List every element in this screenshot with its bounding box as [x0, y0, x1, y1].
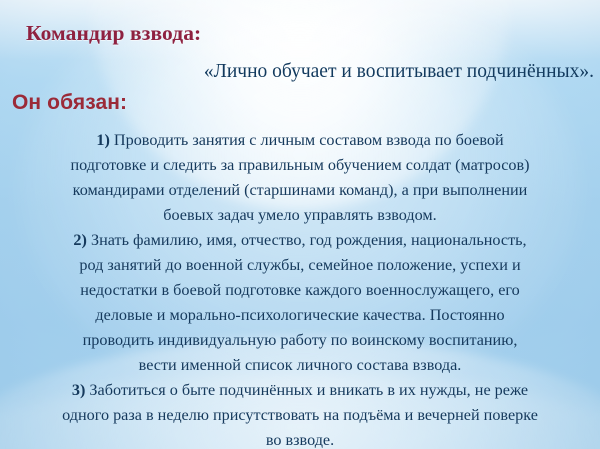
duty-line: недостатки в боевой подготовке каждого в… [80, 281, 520, 299]
slide-title: Командир взвода: [26, 22, 201, 45]
duty-line: командирами отделений (старшинами команд… [73, 181, 528, 199]
duty-marker: 1) [96, 131, 109, 149]
duty-line: боевых задач умело управлять взводом. [163, 206, 436, 224]
duty-line: деловые и морально-психологические качес… [95, 306, 504, 324]
duty-item-3: 3) Заботиться о быте подчинённых и вника… [6, 378, 594, 449]
duty-line: вести именной список личного состава взв… [139, 356, 462, 374]
duty-text: Проводить занятия с личным составом взво… [114, 131, 504, 149]
duty-item-2: 2) Знать фамилию, имя, отчество, год рож… [6, 228, 594, 378]
duty-line: подготовке и следить за правильным обуче… [70, 156, 529, 174]
duties-list: 1) Проводить занятия с личным составом в… [6, 128, 594, 449]
duty-text: Заботиться о быте подчинённых и вникать … [89, 381, 528, 399]
duty-line: 2) Знать фамилию, имя, отчество, год рож… [73, 231, 526, 249]
duty-line: род занятий до военной службы, семейное … [79, 256, 520, 274]
duty-marker: 3) [72, 381, 85, 399]
duty-line: одного раза в неделю присутствовать на п… [62, 406, 538, 424]
slide-subtitle: Он обязан: [12, 92, 127, 114]
duty-text: Знать фамилию, имя, отчество, год рожден… [91, 231, 527, 249]
slide-canvas: Командир взвода: «Лично обучает и воспит… [0, 0, 600, 449]
duty-line: проводить индивидуальную работу по воинс… [83, 331, 518, 349]
duty-marker: 2) [73, 231, 86, 249]
slide-quote: «Лично обучает и воспитывает подчинённых… [0, 60, 594, 83]
slide-content: Командир взвода: «Лично обучает и воспит… [0, 0, 600, 449]
duty-line: 3) Заботиться о быте подчинённых и вника… [72, 381, 528, 399]
duty-line: во взводе. [266, 431, 334, 449]
duty-line: 1) Проводить занятия с личным составом в… [96, 131, 503, 149]
duty-item-1: 1) Проводить занятия с личным составом в… [6, 128, 594, 228]
